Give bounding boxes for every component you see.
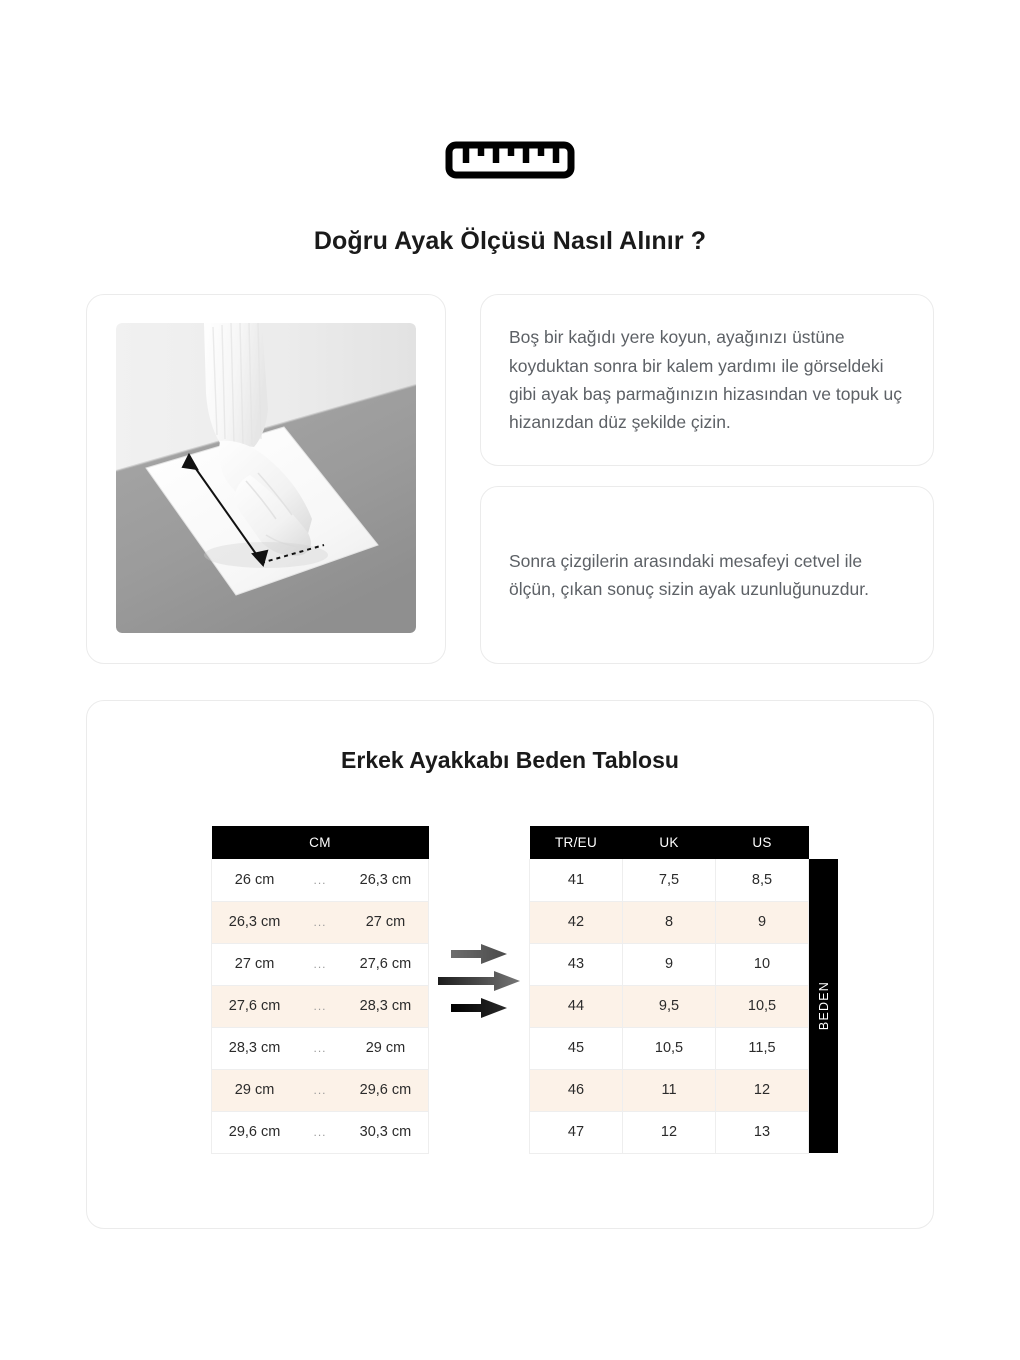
table-row: 26,3 cm ... 27 cm	[212, 901, 429, 943]
size-treu: 41	[530, 859, 623, 901]
size-table-wrap: TR/EU UK US 41 7,5 8,5 42 8	[529, 826, 809, 1154]
arrow-right-short-gray-icon	[451, 944, 507, 964]
size-uk: 9,5	[623, 985, 716, 1027]
size-treu: 42	[530, 901, 623, 943]
beden-side-label: BEDEN	[809, 859, 838, 1153]
size-table: TR/EU UK US 41 7,5 8,5 42 8	[529, 826, 809, 1154]
size-chart-card: Erkek Ayakkabı Beden Tablosu CM 26 cm ..…	[86, 700, 934, 1229]
size-uk: 12	[623, 1111, 716, 1153]
cm-from: 27 cm	[212, 943, 298, 985]
table-row: 29 cm ... 29,6 cm	[212, 1069, 429, 1111]
size-guide-page: Doğru Ayak Ölçüsü Nasıl Alınır ?	[0, 0, 1020, 1360]
size-treu: 46	[530, 1069, 623, 1111]
cm-from: 26 cm	[212, 859, 298, 901]
conversion-arrows	[429, 826, 529, 1018]
size-table-header-row: TR/EU UK US	[530, 826, 809, 859]
table-row: 26 cm ... 26,3 cm	[212, 859, 429, 901]
cm-separator: ...	[297, 1069, 343, 1111]
instructions-section: Boş bir kağıdı yere koyun, ayağınızı üst…	[86, 294, 934, 664]
cm-from: 29,6 cm	[212, 1111, 298, 1153]
cm-to: 28,3 cm	[343, 985, 429, 1027]
table-row: 27,6 cm ... 28,3 cm	[212, 985, 429, 1027]
instruction-card-1: Boş bir kağıdı yere koyun, ayağınızı üst…	[480, 294, 934, 466]
cm-separator: ...	[297, 901, 343, 943]
size-treu: 43	[530, 943, 623, 985]
size-us: 13	[716, 1111, 809, 1153]
size-uk: 11	[623, 1069, 716, 1111]
size-treu: 45	[530, 1027, 623, 1069]
cm-separator: ...	[297, 943, 343, 985]
size-header-treu: TR/EU	[530, 826, 623, 859]
size-uk: 8	[623, 901, 716, 943]
cm-table: CM 26 cm ... 26,3 cm 26,3 cm ... 27 cm	[211, 826, 429, 1154]
size-header-us: US	[716, 826, 809, 859]
size-us: 8,5	[716, 859, 809, 901]
size-uk: 7,5	[623, 859, 716, 901]
instruction-text-2: Sonra çizgilerin arasındaki mesafeyi cet…	[509, 547, 905, 604]
size-us: 9	[716, 901, 809, 943]
page-header: Doğru Ayak Ölçüsü Nasıl Alınır ?	[0, 0, 1020, 256]
foot-measurement-photo	[116, 323, 416, 633]
cm-to: 26,3 cm	[343, 859, 429, 901]
arrow-right-short-dark-icon	[451, 998, 507, 1018]
table-row: 47 12 13	[530, 1111, 809, 1153]
cm-from: 29 cm	[212, 1069, 298, 1111]
arrow-right-long-gray-icon	[438, 971, 520, 991]
size-us: 10,5	[716, 985, 809, 1027]
size-table-body: 41 7,5 8,5 42 8 9 43 9 10	[530, 859, 809, 1153]
table-row: 28,3 cm ... 29 cm	[212, 1027, 429, 1069]
size-header-uk: UK	[623, 826, 716, 859]
table-row: 45 10,5 11,5	[530, 1027, 809, 1069]
page-title: Doğru Ayak Ölçüsü Nasıl Alınır ?	[0, 227, 1020, 256]
photo-card	[86, 294, 446, 664]
size-uk: 10,5	[623, 1027, 716, 1069]
cm-header-cell: CM	[212, 826, 429, 859]
instruction-card-2: Sonra çizgilerin arasındaki mesafeyi cet…	[480, 486, 934, 664]
size-uk: 9	[623, 943, 716, 985]
cm-to: 29,6 cm	[343, 1069, 429, 1111]
cm-table-body: 26 cm ... 26,3 cm 26,3 cm ... 27 cm 27 c…	[212, 859, 429, 1153]
cm-from: 28,3 cm	[212, 1027, 298, 1069]
cm-from: 26,3 cm	[212, 901, 298, 943]
size-treu: 47	[530, 1111, 623, 1153]
size-us: 10	[716, 943, 809, 985]
size-tables-row: CM 26 cm ... 26,3 cm 26,3 cm ... 27 cm	[87, 826, 933, 1154]
ruler-icon	[445, 140, 575, 180]
cm-to: 29 cm	[343, 1027, 429, 1069]
table-row: 43 9 10	[530, 943, 809, 985]
size-treu: 44	[530, 985, 623, 1027]
cm-separator: ...	[297, 1027, 343, 1069]
table-row: 27 cm ... 27,6 cm	[212, 943, 429, 985]
cm-to: 27 cm	[343, 901, 429, 943]
table-row: 44 9,5 10,5	[530, 985, 809, 1027]
cm-separator: ...	[297, 859, 343, 901]
size-chart-title: Erkek Ayakkabı Beden Tablosu	[87, 747, 933, 774]
instructions-column: Boş bir kağıdı yere koyun, ayağınızı üst…	[480, 294, 934, 664]
cm-to: 30,3 cm	[343, 1111, 429, 1153]
cm-from: 27,6 cm	[212, 985, 298, 1027]
table-row: 46 11 12	[530, 1069, 809, 1111]
table-row: 41 7,5 8,5	[530, 859, 809, 901]
table-row: 29,6 cm ... 30,3 cm	[212, 1111, 429, 1153]
cm-separator: ...	[297, 985, 343, 1027]
instruction-text-1: Boş bir kağıdı yere koyun, ayağınızı üst…	[509, 323, 905, 436]
cm-separator: ...	[297, 1111, 343, 1153]
table-row: 42 8 9	[530, 901, 809, 943]
beden-label-text: BEDEN	[817, 981, 831, 1030]
cm-to: 27,6 cm	[343, 943, 429, 985]
size-us: 11,5	[716, 1027, 809, 1069]
size-us: 12	[716, 1069, 809, 1111]
cm-table-header-row: CM	[212, 826, 429, 859]
